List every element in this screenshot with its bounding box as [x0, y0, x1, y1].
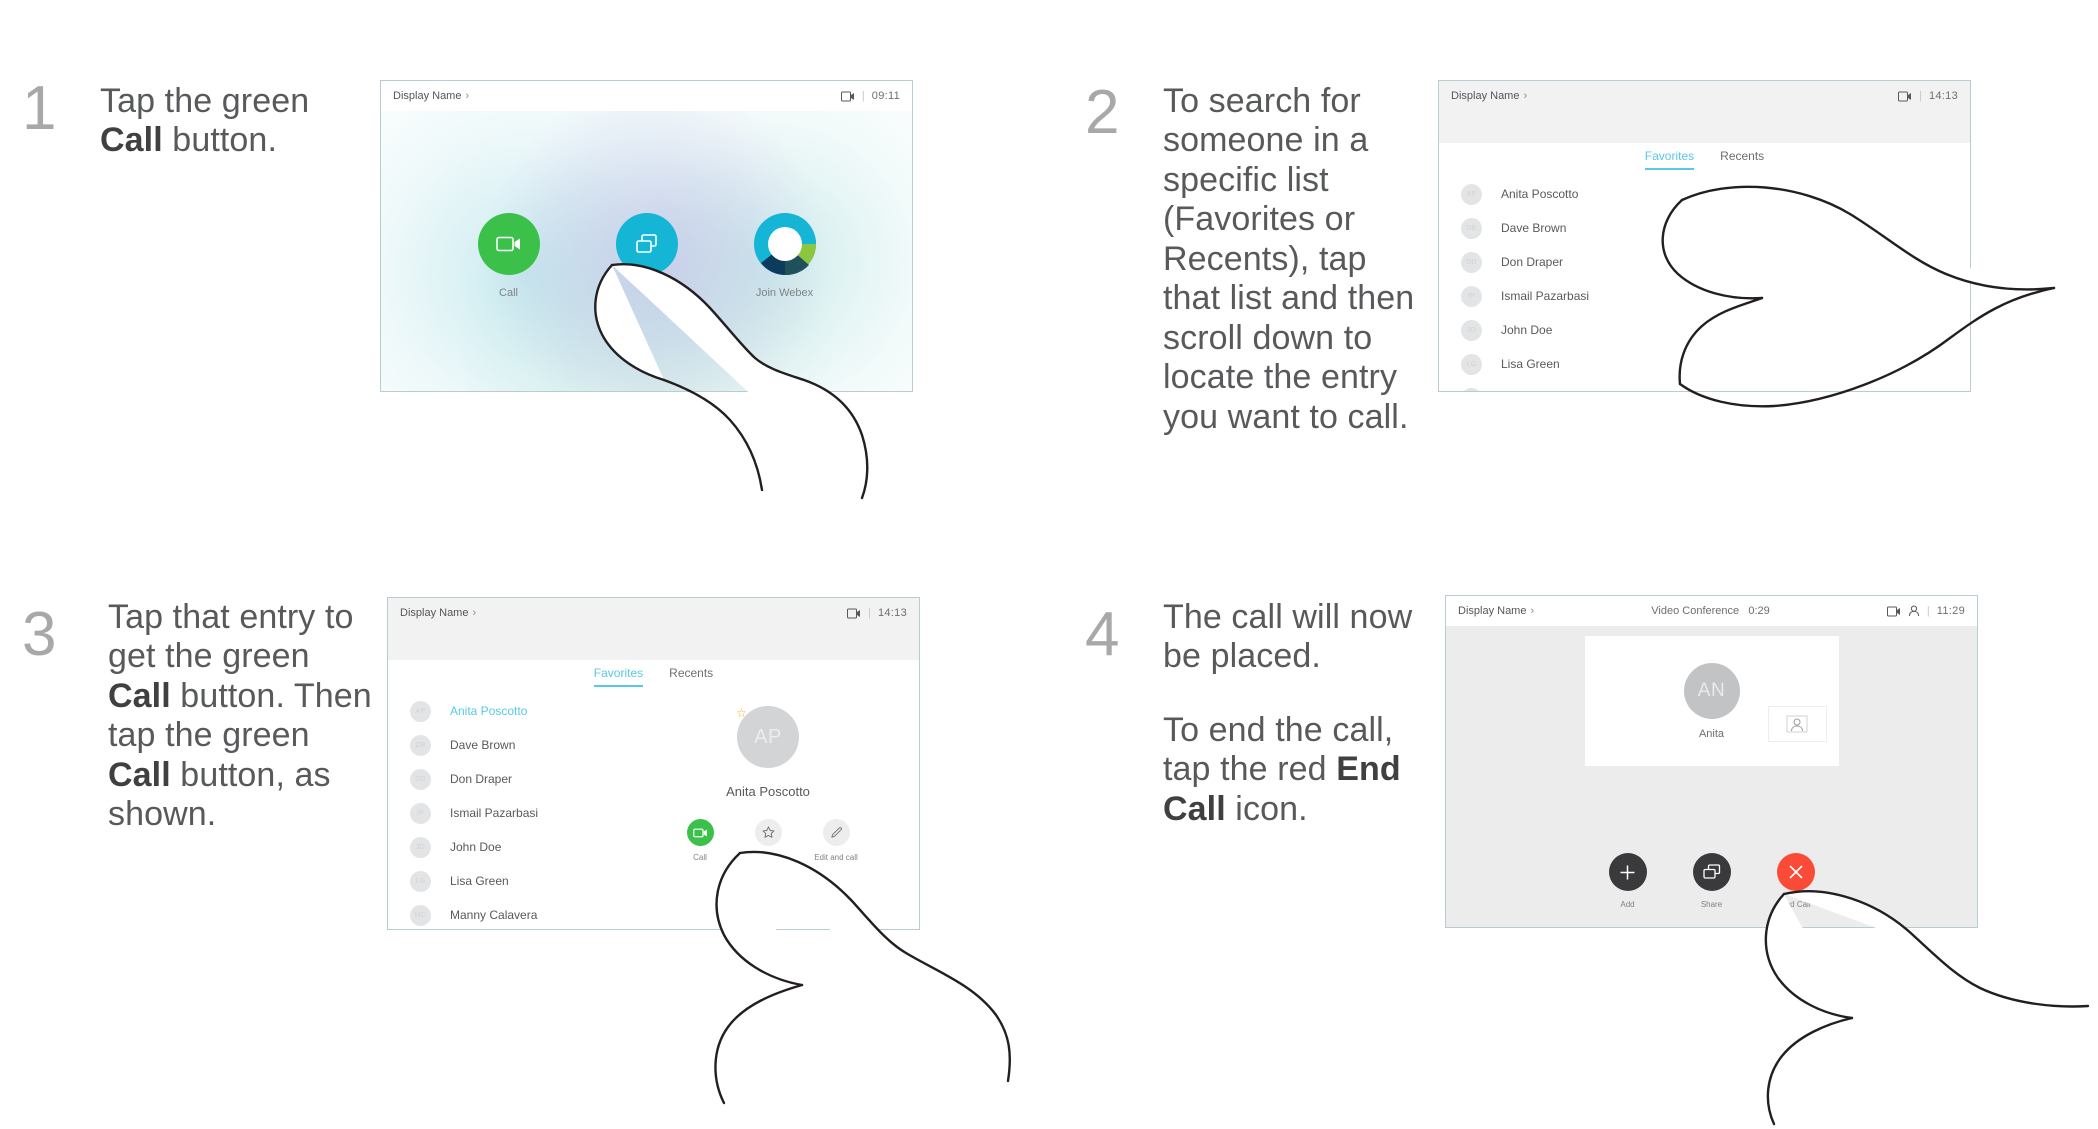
clock-4: 11:29 — [1937, 605, 1965, 617]
avatar: AP — [410, 701, 431, 722]
list-item[interactable]: JDJohn Doe — [410, 830, 710, 864]
video-camera-icon-card — [693, 828, 708, 838]
avatar: DB — [410, 735, 431, 756]
contact-name: John Doe — [1501, 323, 1552, 337]
list-item[interactable]: IPIsmail Pazarbasi — [410, 796, 710, 830]
step-3-text-bold-2: Call — [108, 756, 171, 794]
device-screen-1: Display Name › | 09:11 Call — [380, 80, 913, 392]
step-4-text: The call will now be placed. To end the … — [1163, 598, 1421, 829]
end-call-circle[interactable] — [1777, 853, 1815, 891]
list-item[interactable]: DBDave Brown — [1461, 211, 1761, 245]
contact-name: Don Draper — [1501, 255, 1563, 269]
contact-name: Lisa Green — [1501, 357, 1560, 371]
list-item[interactable]: MCManny Calavera — [410, 898, 710, 930]
step-3-text: Tap that entry to get the green Call but… — [108, 598, 376, 835]
person-icon-4[interactable] — [1908, 605, 1920, 617]
step-4-number: 4 — [1085, 604, 1119, 666]
avatar: JD — [410, 837, 431, 858]
share-label: Share — [1683, 900, 1741, 909]
avatar: DD — [410, 769, 431, 790]
step-1-text-part-2: button. — [163, 121, 277, 159]
display-name-button-1[interactable]: Display Name › — [393, 90, 469, 102]
contact-name: Manny Calavera — [1501, 391, 1588, 392]
step-3-text-bold-1: Call — [108, 677, 171, 715]
call-title: Video Conference — [1651, 605, 1739, 617]
list-item[interactable]: DBDave Brown — [410, 728, 710, 762]
video-camera-icon-home — [496, 235, 522, 253]
status-separator-1: | — [862, 90, 865, 102]
list-item[interactable]: DDDon Draper — [410, 762, 710, 796]
device-screen-3: Display Name › | 14:13 Search — [387, 597, 920, 930]
list-item[interactable]: MCManny Calavera — [1461, 381, 1761, 392]
step-3-number: 3 — [22, 604, 56, 666]
camera-icon-1[interactable] — [841, 91, 855, 102]
list-item[interactable]: APAnita Poscotto — [1461, 177, 1761, 211]
avatar: AP — [1461, 184, 1482, 205]
home-call-button[interactable]: Call — [466, 213, 552, 299]
status-bar-1: Display Name › | 09:11 — [381, 81, 912, 111]
add-participant-button[interactable]: Add — [1599, 853, 1657, 909]
step-1-text-bold-1: Call — [100, 121, 163, 159]
contact-name: Ismail Pazarbasi — [450, 806, 538, 820]
tab-recents-3[interactable]: Recents — [669, 666, 713, 687]
status-right-2: | 14:13 — [1898, 90, 1958, 102]
contact-name: Dave Brown — [450, 738, 515, 752]
display-name-button-4[interactable]: Display Name › — [1458, 605, 1534, 617]
display-name-label-1: Display Name — [393, 90, 461, 102]
device-screen-4: Display Name › Video Conference 0:29 | 1… — [1445, 595, 1978, 928]
status-bar-3: Display Name › | 14:13 — [388, 598, 919, 628]
avatar: MC — [410, 905, 431, 926]
step-1-text-part-1: Tap the green — [100, 82, 309, 120]
step-4-text-part-3: icon. — [1226, 790, 1308, 828]
clock-1: 09:11 — [872, 90, 900, 102]
card-call-button[interactable]: Call — [677, 819, 723, 863]
contact-list-2: APAnita Poscotto DBDave Brown DDDon Drap… — [1461, 177, 1761, 392]
avatar: IP — [1461, 286, 1482, 307]
contact-detail-card: AP ☆ Anita Poscotto Call — [673, 706, 863, 863]
contact-name: Anita Poscotto — [450, 704, 527, 718]
list-item-selected[interactable]: APAnita Poscotto — [410, 694, 710, 728]
display-name-button-3[interactable]: Display Name › — [400, 607, 476, 619]
avatar: IP — [410, 803, 431, 824]
contact-name: Manny Calavera — [450, 908, 537, 922]
status-bar-4: Display Name › Video Conference 0:29 | 1… — [1446, 596, 1977, 626]
selfview-person-icon — [1786, 715, 1808, 733]
status-separator-2: | — [1919, 90, 1922, 102]
camera-icon-2[interactable] — [1898, 91, 1912, 102]
home-button-row: Call — [381, 213, 912, 299]
avatar: DB — [1461, 218, 1482, 239]
step-3-text-part-1: Tap that entry to get the green — [108, 598, 354, 675]
contact-name: John Doe — [450, 840, 501, 854]
list-item[interactable]: DDDon Draper — [1461, 245, 1761, 279]
tab-favorites-2[interactable]: Favorites — [1645, 149, 1694, 170]
home-webex-button[interactable]: Join Webex — [742, 213, 828, 299]
star-outline-icon — [762, 826, 775, 839]
avatar: DD — [1461, 252, 1482, 273]
webex-logo-icon — [754, 213, 816, 275]
call-duration: 0:29 — [1748, 605, 1769, 617]
pencil-icon — [830, 826, 843, 839]
call-video-area: AN Anita — [1585, 636, 1839, 766]
close-x-icon — [1788, 864, 1804, 880]
card-favorite-button[interactable] — [745, 819, 791, 863]
call-status-center: Video Conference 0:29 — [1534, 605, 1887, 617]
tab-recents-2[interactable]: Recents — [1720, 149, 1764, 170]
avatar: JD — [1461, 320, 1482, 341]
status-right-1: | 09:11 — [841, 90, 900, 102]
share-circle[interactable] — [616, 213, 678, 275]
edit-action-circle[interactable] — [823, 819, 850, 846]
home-share-button[interactable] — [604, 213, 690, 299]
home-webex-label: Join Webex — [742, 287, 828, 299]
step-4-text-part-1: The call will now be placed. — [1163, 598, 1412, 675]
share-circle-4[interactable] — [1693, 853, 1731, 891]
contact-name: Dave Brown — [1501, 221, 1566, 235]
status-right-4: | 11:29 — [1887, 605, 1965, 617]
contact-name: Don Draper — [450, 772, 512, 786]
guide-page: 1 Tap the green Call button. Display Nam… — [0, 0, 2098, 1129]
chevron-right-icon-1: › — [465, 90, 469, 102]
card-call-label: Call — [677, 853, 723, 863]
contact-card-actions: Call Edit and call — [673, 819, 863, 863]
star-icon-badge: ☆ — [736, 707, 747, 719]
camera-icon-3[interactable] — [847, 608, 861, 619]
chevron-right-icon-3: › — [472, 607, 476, 619]
remote-party: AN Anita — [1684, 663, 1740, 740]
list-item[interactable]: IPIsmail Pazarbasi — [1461, 279, 1761, 313]
status-separator-3: | — [868, 607, 871, 619]
step-4-paragraph-gap — [1163, 677, 1421, 711]
favorite-action-circle[interactable] — [755, 819, 782, 846]
status-separator-4: | — [1927, 605, 1930, 617]
step-2-number: 2 — [1085, 82, 1119, 144]
tab-favorites-3[interactable]: Favorites — [594, 666, 643, 687]
clock-3: 14:13 — [878, 607, 907, 619]
device-screen-2: Display Name › | 14:13 Search — [1438, 80, 1971, 392]
list-tabs-3: Favorites Recents — [388, 666, 919, 687]
remote-party-avatar: AN — [1684, 663, 1740, 719]
list-item[interactable]: LGLisa Green — [410, 864, 710, 898]
avatar-wrapper: AP ☆ — [737, 706, 799, 768]
avatar: LG — [410, 871, 431, 892]
contact-card-name: Anita Poscotto — [673, 784, 863, 799]
list-item[interactable]: LGLisa Green — [1461, 347, 1761, 381]
home-call-label: Call — [466, 287, 552, 299]
clock-2: 14:13 — [1929, 90, 1958, 102]
share-screen-icon-call — [1702, 863, 1722, 881]
contact-name: Lisa Green — [450, 874, 509, 888]
status-right-3: | 14:13 — [847, 607, 907, 619]
call-circle[interactable] — [478, 213, 540, 275]
step-2-text: To search for someone in a specific list… — [1163, 82, 1425, 437]
share-button[interactable]: Share — [1683, 853, 1741, 909]
display-name-label-2: Display Name — [1451, 90, 1519, 102]
end-call-label: End Call — [1767, 900, 1825, 909]
step-1-text: Tap the green Call button. — [100, 82, 350, 161]
call-control-bar: Add Share End Call — [1446, 853, 1977, 909]
share-screen-icon-home — [634, 232, 660, 256]
camera-icon-4[interactable] — [1887, 606, 1901, 617]
card-edit-and-call-button[interactable]: Edit and call — [813, 819, 859, 863]
contact-name: Ismail Pazarbasi — [1501, 289, 1589, 303]
end-call-button[interactable]: End Call — [1767, 853, 1825, 909]
list-item[interactable]: JDJohn Doe — [1461, 313, 1761, 347]
webex-circle[interactable] — [754, 213, 816, 275]
step-1-number: 1 — [22, 78, 56, 140]
avatar: LG — [1461, 354, 1482, 375]
self-view-pip[interactable] — [1768, 706, 1827, 742]
contact-name: Anita Poscotto — [1501, 187, 1578, 201]
add-circle[interactable] — [1609, 853, 1647, 891]
avatar: MC — [1461, 388, 1482, 393]
chevron-right-icon-2: › — [1523, 90, 1527, 102]
card-edit-and-call-label: Edit and call — [813, 853, 859, 863]
display-name-button-2[interactable]: Display Name › — [1451, 90, 1527, 102]
list-tabs-2: Favorites Recents — [1439, 149, 1970, 170]
display-name-label-3: Display Name — [400, 607, 468, 619]
contact-list-3: APAnita Poscotto DBDave Brown DDDon Drap… — [410, 694, 710, 930]
add-label: Add — [1599, 900, 1657, 909]
status-bar-2: Display Name › | 14:13 — [1439, 81, 1970, 111]
remote-party-name: Anita — [1684, 728, 1740, 740]
call-action-circle[interactable] — [687, 819, 714, 846]
display-name-label-4: Display Name — [1458, 605, 1526, 617]
plus-icon — [1619, 864, 1636, 881]
